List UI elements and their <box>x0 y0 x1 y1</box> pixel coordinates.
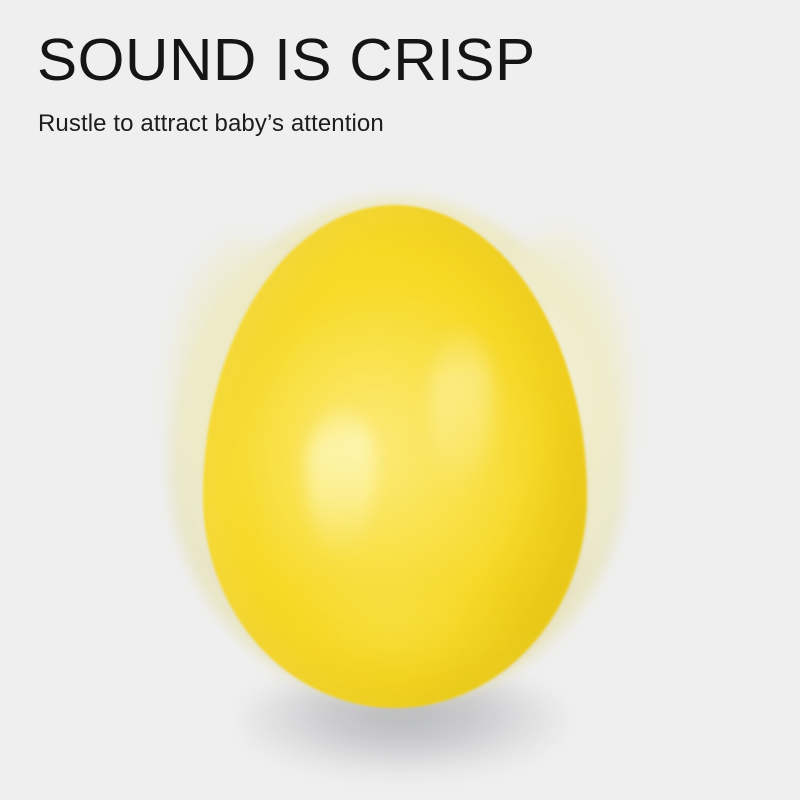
subheadline: Rustle to attract baby’s attention <box>38 109 757 139</box>
feature-poster: SOUND IS CRISP Rustle to attract baby’s … <box>0 0 800 800</box>
copy-block: SOUND IS CRISP Rustle to attract baby’s … <box>37 30 757 139</box>
egg-bottom-bounce-light <box>262 582 528 698</box>
headline: SOUND IS CRISP <box>37 30 771 91</box>
egg-diffuse-sheen <box>245 300 545 630</box>
